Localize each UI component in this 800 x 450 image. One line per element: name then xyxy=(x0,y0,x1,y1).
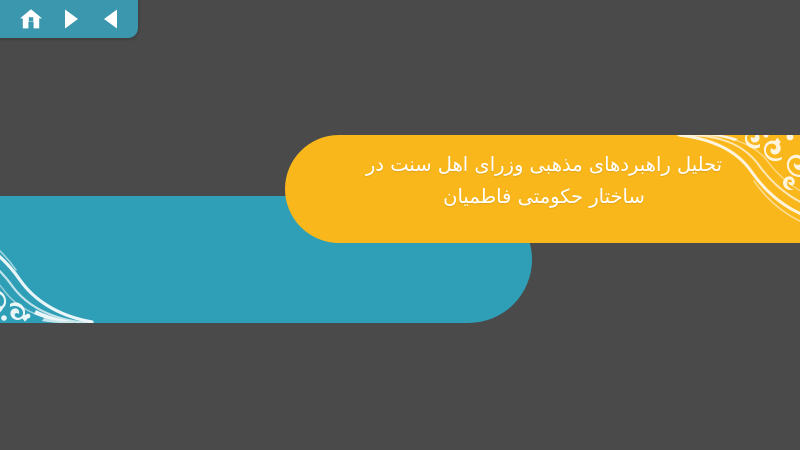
title-line-1: تحلیل راهبردهای مذهبی وزرای اهل سنت در xyxy=(344,149,744,181)
title-banner: تحلیل راهبردهای مذهبی وزرای اهل سنت در س… xyxy=(285,135,800,243)
home-icon xyxy=(19,8,43,30)
home-button[interactable] xyxy=(18,6,44,32)
slide-canvas: تحلیل راهبردهای مذهبی وزرای اهل سنت در س… xyxy=(0,0,800,450)
triangle-right-icon xyxy=(62,8,80,30)
arabesque-ornament-left xyxy=(0,196,130,323)
previous-button[interactable] xyxy=(98,6,124,32)
navigation-bar xyxy=(0,0,138,38)
title-line-2: ساختار حکومتی فاطمیان xyxy=(344,181,744,213)
next-button[interactable] xyxy=(58,6,84,32)
triangle-left-icon xyxy=(102,8,120,30)
slide-title: تحلیل راهبردهای مذهبی وزرای اهل سنت در س… xyxy=(344,149,744,213)
